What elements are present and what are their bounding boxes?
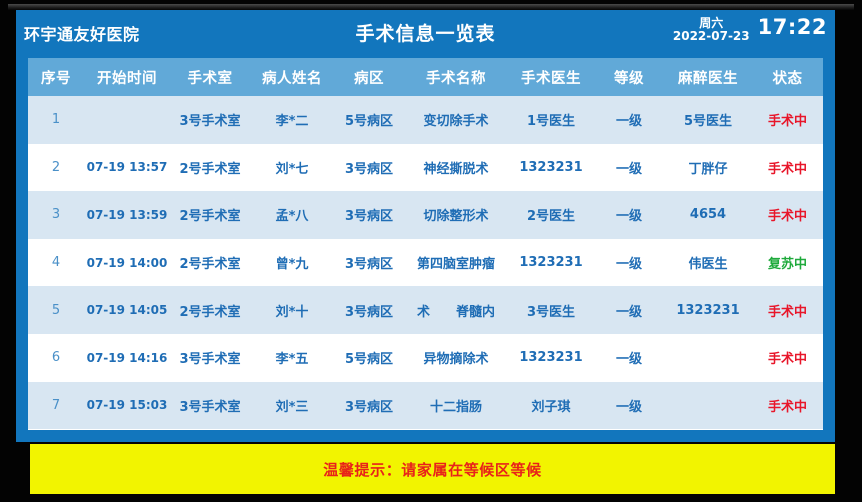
cell-operating-room: 3号手术室 bbox=[170, 334, 250, 382]
cell-seq: 7 bbox=[28, 382, 84, 430]
display-bezel: 环宇通友好医院 手术信息一览表 周六 2022-07-23 17:22 序号 开… bbox=[0, 0, 862, 502]
column-header-status: 状态 bbox=[752, 58, 823, 96]
column-header-start-time: 开始时间 bbox=[84, 58, 170, 96]
table-row[interactable]: 607-19 14:163号手术室李*五5号病区异物摘除术1323231一级手术… bbox=[28, 334, 823, 382]
table-row[interactable]: 407-19 14:002号手术室曾*九3号病区第四脑室肿瘤1323231一级伟… bbox=[28, 239, 823, 287]
cell-surgeon: 1号医生 bbox=[508, 96, 594, 144]
cell-ward: 3号病区 bbox=[334, 144, 404, 192]
cell-level: 一级 bbox=[594, 382, 664, 430]
cell-ward: 3号病区 bbox=[334, 239, 404, 287]
table-row[interactable]: 707-19 15:033号手术室刘*三3号病区十二指肠刘子琪一级手术中 bbox=[28, 382, 823, 430]
cell-patient-name: 刘*三 bbox=[250, 382, 334, 430]
column-header-patient-name: 病人姓名 bbox=[250, 58, 334, 96]
cell-level: 一级 bbox=[594, 286, 664, 334]
cell-ward: 5号病区 bbox=[334, 334, 404, 382]
table-row[interactable]: 507-19 14:052号手术室刘*十3号病区术 脊髓内3号医生一级13232… bbox=[28, 286, 823, 334]
cell-operating-room: 3号手术室 bbox=[170, 382, 250, 430]
board-header: 环宇通友好医院 手术信息一览表 周六 2022-07-23 17:22 bbox=[16, 10, 835, 58]
cell-operating-room: 3号手术室 bbox=[170, 96, 250, 144]
datetime-block: 周六 2022-07-23 17:22 bbox=[673, 13, 827, 44]
cell-anesthesiologist: 5号医生 bbox=[664, 96, 752, 144]
date-label: 2022-07-23 bbox=[673, 30, 750, 43]
cell-surgery-name: 异物摘除术 bbox=[404, 334, 508, 382]
cell-seq: 2 bbox=[28, 144, 84, 192]
cell-level: 一级 bbox=[594, 239, 664, 287]
cell-ward: 5号病区 bbox=[334, 96, 404, 144]
cell-level: 一级 bbox=[594, 334, 664, 382]
cell-anesthesiologist bbox=[664, 334, 752, 382]
surgery-table: 序号 开始时间 手术室 病人姓名 病区 手术名称 手术医生 等级 麻醉医生 状态… bbox=[28, 58, 823, 429]
column-header-anesthesiologist: 麻醉医生 bbox=[664, 58, 752, 96]
cell-start-time: 07-19 13:57 bbox=[84, 144, 170, 192]
column-header-seq: 序号 bbox=[28, 58, 84, 96]
cell-anesthesiologist: 4654 bbox=[664, 191, 752, 239]
cell-level: 一级 bbox=[594, 96, 664, 144]
column-header-surgery-name: 手术名称 bbox=[404, 58, 508, 96]
cell-start-time: 07-19 13:59 bbox=[84, 191, 170, 239]
cell-anesthesiologist: 1323231 bbox=[664, 286, 752, 334]
cell-start-time: 07-19 14:00 bbox=[84, 239, 170, 287]
cell-start-time: 07-19 14:16 bbox=[84, 334, 170, 382]
table-row[interactable]: 307-19 13:592号手术室孟*八3号病区切除整形术2号医生一级4654手… bbox=[28, 191, 823, 239]
clock-label: 17:22 bbox=[758, 15, 827, 41]
cell-start-time bbox=[84, 96, 170, 144]
table-header: 序号 开始时间 手术室 病人姓名 病区 手术名称 手术医生 等级 麻醉医生 状态 bbox=[28, 58, 823, 96]
cell-surgery-name: 切除整形术 bbox=[404, 191, 508, 239]
cell-operating-room: 2号手术室 bbox=[170, 286, 250, 334]
cell-seq: 5 bbox=[28, 286, 84, 334]
cell-ward: 3号病区 bbox=[334, 286, 404, 334]
column-header-surgeon: 手术医生 bbox=[508, 58, 594, 96]
cell-surgeon: 1323231 bbox=[508, 239, 594, 287]
cell-anesthesiologist bbox=[664, 382, 752, 430]
cell-surgery-name: 神经撕脱术 bbox=[404, 144, 508, 192]
cell-surgery-name: 第四脑室肿瘤 bbox=[404, 239, 508, 287]
cell-seq: 6 bbox=[28, 334, 84, 382]
table-row[interactable]: 207-19 13:572号手术室刘*七3号病区神经撕脱术1323231一级丁胖… bbox=[28, 144, 823, 192]
surgery-board-panel: 环宇通友好医院 手术信息一览表 周六 2022-07-23 17:22 序号 开… bbox=[16, 10, 835, 442]
cell-surgeon: 刘子琪 bbox=[508, 382, 594, 430]
cell-status: 手术中 bbox=[752, 191, 823, 239]
cell-status: 复苏中 bbox=[752, 239, 823, 287]
cell-ward: 3号病区 bbox=[334, 191, 404, 239]
cell-patient-name: 刘*七 bbox=[250, 144, 334, 192]
cell-status: 手术中 bbox=[752, 96, 823, 144]
cell-status: 手术中 bbox=[752, 382, 823, 430]
cell-surgery-name: 术 脊髓内 bbox=[404, 286, 508, 334]
cell-surgery-name: 十二指肠 bbox=[404, 382, 508, 430]
table-body: 13号手术室李*二5号病区变切除手术1号医生一级5号医生手术中207-19 13… bbox=[28, 96, 823, 429]
cell-patient-name: 李*五 bbox=[250, 334, 334, 382]
table-row[interactable]: 13号手术室李*二5号病区变切除手术1号医生一级5号医生手术中 bbox=[28, 96, 823, 144]
footer-notice-text: 温馨提示：请家属在等候区等候 bbox=[323, 459, 541, 480]
cell-surgeon: 1323231 bbox=[508, 334, 594, 382]
cell-surgeon: 1323231 bbox=[508, 144, 594, 192]
cell-operating-room: 2号手术室 bbox=[170, 144, 250, 192]
table-header-row: 序号 开始时间 手术室 病人姓名 病区 手术名称 手术医生 等级 麻醉医生 状态 bbox=[28, 58, 823, 96]
cell-operating-room: 2号手术室 bbox=[170, 191, 250, 239]
date-stack: 周六 2022-07-23 bbox=[673, 13, 750, 44]
cell-surgeon: 2号医生 bbox=[508, 191, 594, 239]
cell-patient-name: 曾*九 bbox=[250, 239, 334, 287]
cell-level: 一级 bbox=[594, 191, 664, 239]
cell-status: 手术中 bbox=[752, 144, 823, 192]
cell-seq: 3 bbox=[28, 191, 84, 239]
column-header-ward: 病区 bbox=[334, 58, 404, 96]
cell-start-time: 07-19 14:05 bbox=[84, 286, 170, 334]
surgery-table-container: 序号 开始时间 手术室 病人姓名 病区 手术名称 手术医生 等级 麻醉医生 状态… bbox=[28, 58, 823, 430]
cell-seq: 1 bbox=[28, 96, 84, 144]
cell-patient-name: 李*二 bbox=[250, 96, 334, 144]
cell-level: 一级 bbox=[594, 144, 664, 192]
cell-surgery-name: 变切除手术 bbox=[404, 96, 508, 144]
cell-patient-name: 刘*十 bbox=[250, 286, 334, 334]
footer-notice-banner: 温馨提示：请家属在等候区等候 bbox=[30, 444, 835, 494]
cell-patient-name: 孟*八 bbox=[250, 191, 334, 239]
cell-surgeon: 3号医生 bbox=[508, 286, 594, 334]
cell-start-time: 07-19 15:03 bbox=[84, 382, 170, 430]
column-header-level: 等级 bbox=[594, 58, 664, 96]
weekday-label: 周六 bbox=[699, 17, 723, 30]
cell-status: 手术中 bbox=[752, 334, 823, 382]
cell-operating-room: 2号手术室 bbox=[170, 239, 250, 287]
cell-status: 手术中 bbox=[752, 286, 823, 334]
cell-seq: 4 bbox=[28, 239, 84, 287]
cell-anesthesiologist: 伟医生 bbox=[664, 239, 752, 287]
cell-anesthesiologist: 丁胖仔 bbox=[664, 144, 752, 192]
column-header-operating-room: 手术室 bbox=[170, 58, 250, 96]
cell-ward: 3号病区 bbox=[334, 382, 404, 430]
